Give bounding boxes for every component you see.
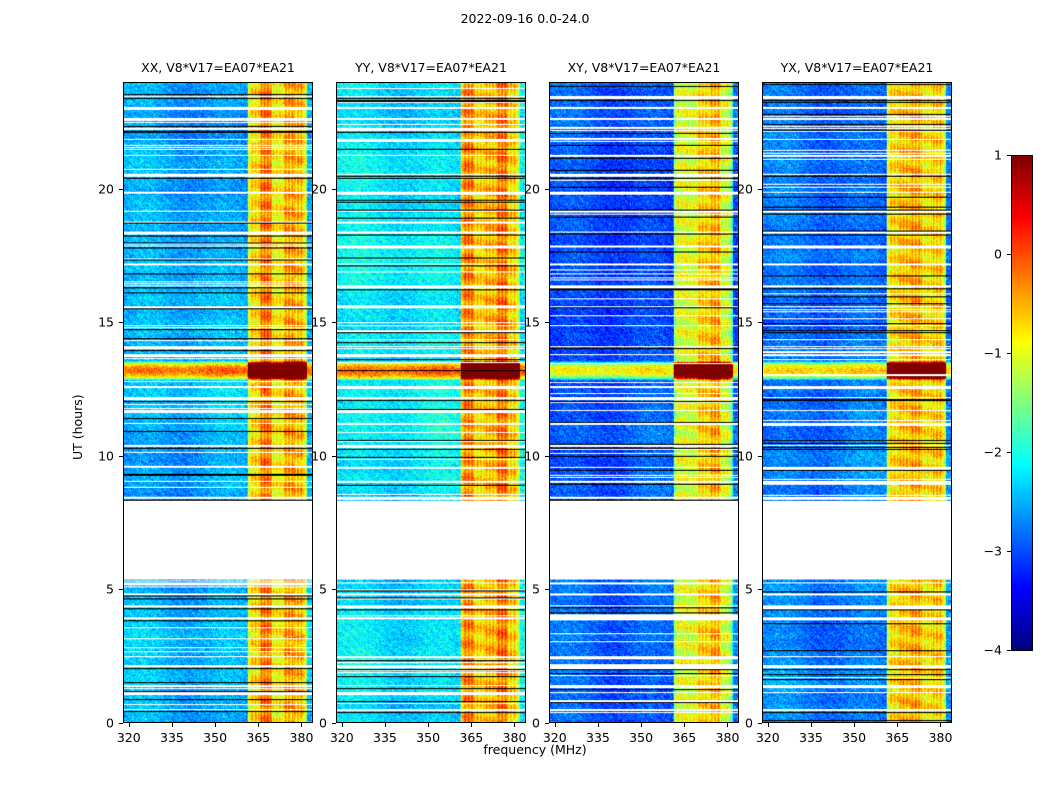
colorbar-gradient[interactable]	[1011, 155, 1033, 651]
panel-yx-axes[interactable]	[762, 82, 952, 723]
y-tick-label: 15	[737, 315, 753, 330]
panel-xx-title: XX, V8*V17=EA07*EA21	[123, 60, 313, 75]
panel-yy-title: YY, V8*V17=EA07*EA21	[336, 60, 526, 75]
y-tick-label: 0	[745, 716, 753, 731]
y-tick	[332, 189, 336, 190]
y-tick-label: 5	[745, 582, 753, 597]
colorbar-tick	[1007, 254, 1011, 255]
y-tick	[332, 723, 336, 724]
y-tick	[758, 456, 762, 457]
y-tick	[119, 189, 123, 190]
x-tick-label: 380	[716, 730, 740, 745]
y-tick	[758, 589, 762, 590]
x-tick	[768, 723, 769, 727]
x-tick-label: 380	[290, 730, 314, 745]
colorbar-tick	[1007, 551, 1011, 552]
x-tick-label: 335	[160, 730, 184, 745]
colorbar-tick	[1007, 353, 1011, 354]
x-tick	[727, 723, 728, 727]
panel-xy-heatmap[interactable]	[550, 83, 738, 722]
colorbar-tick	[1007, 155, 1011, 156]
y-tick-label: 20	[737, 181, 753, 196]
y-tick-label: 10	[737, 448, 753, 463]
y-tick-label: 15	[98, 315, 114, 330]
y-tick-label: 5	[532, 582, 540, 597]
y-tick	[758, 189, 762, 190]
y-tick	[332, 456, 336, 457]
waterfall-figure: 2022-09-16 0.0-24.0 XX, V8*V17=EA07*EA21…	[0, 0, 1050, 800]
y-tick-label: 15	[311, 315, 327, 330]
x-tick-label: 320	[330, 730, 354, 745]
panel-xy-title: XY, V8*V17=EA07*EA21	[549, 60, 739, 75]
y-tick-label: 10	[524, 448, 540, 463]
x-tick	[940, 723, 941, 727]
x-tick	[555, 723, 556, 727]
x-tick	[172, 723, 173, 727]
panel-yx-heatmap[interactable]	[763, 83, 951, 722]
panel-xy[interactable]: XY, V8*V17=EA07*EA21 3203353503653800510…	[549, 82, 739, 723]
x-tick	[684, 723, 685, 727]
y-tick	[332, 589, 336, 590]
x-tick	[897, 723, 898, 727]
x-tick	[854, 723, 855, 727]
y-tick-label: 5	[106, 582, 114, 597]
y-tick	[545, 189, 549, 190]
x-tick-label: 335	[799, 730, 823, 745]
x-tick	[811, 723, 812, 727]
x-tick	[641, 723, 642, 727]
y-tick-label: 15	[524, 315, 540, 330]
y-tick-label: 20	[98, 181, 114, 196]
colorbar-tick-label: 0	[994, 247, 1002, 262]
y-tick-label: 10	[311, 448, 327, 463]
x-tick	[342, 723, 343, 727]
y-tick	[758, 322, 762, 323]
y-tick-label: 20	[524, 181, 540, 196]
y-tick	[119, 723, 123, 724]
x-tick-label: 350	[842, 730, 866, 745]
y-tick-label: 10	[98, 448, 114, 463]
panel-yy-axes[interactable]	[336, 82, 526, 723]
panel-xx[interactable]: XX, V8*V17=EA07*EA21 3203353503653800510…	[123, 82, 313, 723]
y-tick	[545, 589, 549, 590]
y-tick-label: 5	[319, 582, 327, 597]
x-tick	[428, 723, 429, 727]
x-tick-label: 320	[117, 730, 141, 745]
x-tick-label: 380	[929, 730, 953, 745]
x-tick	[301, 723, 302, 727]
colorbar-tick-label: −4	[984, 643, 1002, 658]
colorbar-tick-label: −2	[984, 445, 1002, 460]
y-tick-label: 20	[311, 181, 327, 196]
x-axis-label: frequency (MHz)	[385, 742, 685, 757]
panel-yx-title: YX, V8*V17=EA07*EA21	[762, 60, 952, 75]
colorbar-tick-label: −3	[984, 544, 1002, 559]
x-tick	[514, 723, 515, 727]
panel-yx[interactable]: YX, V8*V17=EA07*EA21 3203353503653800510…	[762, 82, 952, 723]
y-axis-label: UT (hours)	[70, 394, 85, 460]
panel-xx-axes[interactable]	[123, 82, 313, 723]
y-tick	[119, 456, 123, 457]
figure-suptitle: 2022-09-16 0.0-24.0	[0, 11, 1050, 26]
panel-xx-heatmap[interactable]	[124, 83, 312, 722]
x-tick	[258, 723, 259, 727]
y-tick-label: 0	[319, 716, 327, 731]
y-tick-label: 0	[532, 716, 540, 731]
y-tick	[758, 723, 762, 724]
panel-xy-axes[interactable]	[549, 82, 739, 723]
x-tick-label: 365	[246, 730, 270, 745]
x-tick	[385, 723, 386, 727]
x-tick-label: 350	[203, 730, 227, 745]
colorbar-tick-label: −1	[984, 346, 1002, 361]
x-tick	[471, 723, 472, 727]
panel-yy[interactable]: YY, V8*V17=EA07*EA21 3203353503653800510…	[336, 82, 526, 723]
colorbar-tick-label: 1	[994, 148, 1002, 163]
panel-yy-heatmap[interactable]	[337, 83, 525, 722]
y-tick	[545, 723, 549, 724]
y-tick	[545, 322, 549, 323]
x-tick	[215, 723, 216, 727]
colorbar-tick	[1007, 650, 1011, 651]
x-tick-label: 320	[756, 730, 780, 745]
y-tick-label: 0	[106, 716, 114, 731]
y-tick	[332, 322, 336, 323]
y-tick	[545, 456, 549, 457]
x-tick	[598, 723, 599, 727]
y-tick	[119, 322, 123, 323]
colorbar-tick	[1007, 452, 1011, 453]
x-tick-label: 365	[885, 730, 909, 745]
colorbar[interactable]: log10 amplitude −4−3−2−101	[1011, 155, 1033, 651]
y-tick	[119, 589, 123, 590]
x-tick	[129, 723, 130, 727]
